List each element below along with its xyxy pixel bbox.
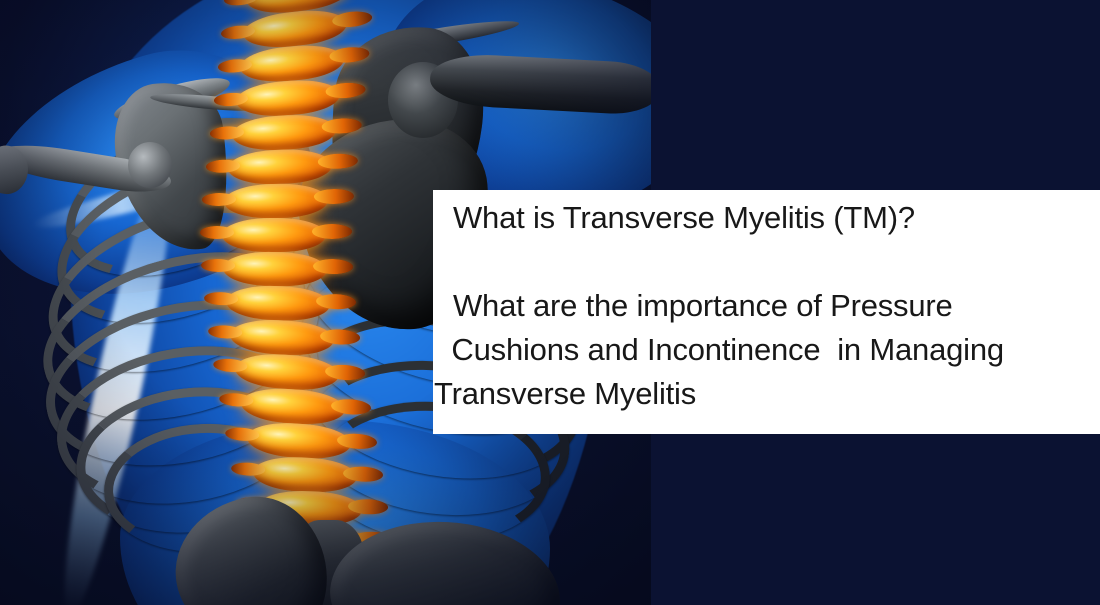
caption-text-box: What is Transverse Myelitis (TM)? What a… (433, 190, 1100, 434)
caption-line-2: What are the importance of Pressure (433, 284, 1100, 328)
left-humeral-head-bone (128, 142, 172, 188)
caption-line-3: Cushions and Incontinence in Managing (433, 328, 1100, 372)
vertebra (222, 218, 326, 252)
caption-line-1: What is Transverse Myelitis (TM)? (433, 196, 1100, 240)
caption-blank-line (433, 240, 1100, 284)
caption-line-4: Transverse Myelitis (433, 372, 1100, 416)
slide-canvas: What is Transverse Myelitis (TM)? What a… (0, 0, 1100, 605)
